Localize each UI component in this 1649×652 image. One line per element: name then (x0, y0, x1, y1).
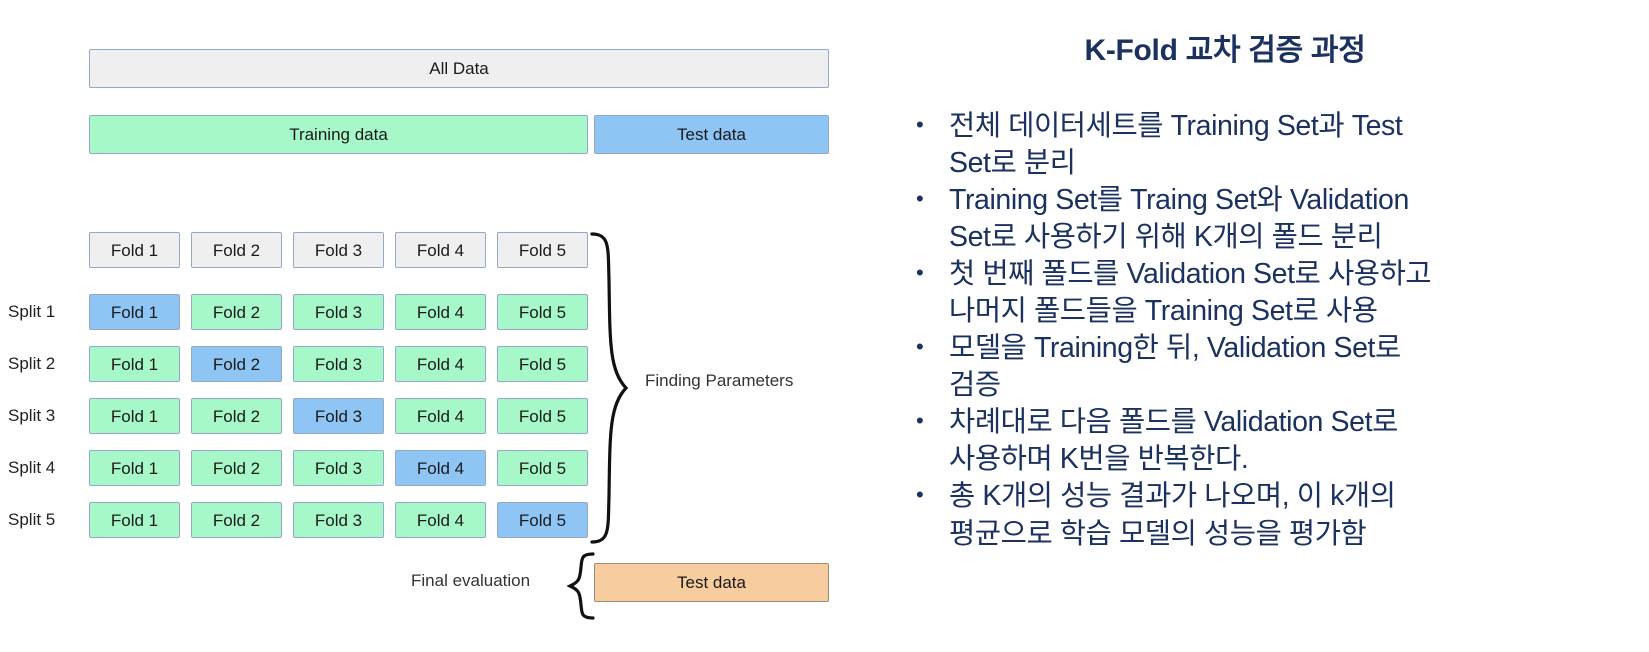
fold-cell-label: Fold 5 (519, 460, 566, 477)
bullet-text: 모델을 Training한 뒤, Validation Set로 검증 (949, 332, 1401, 401)
fold-cell-training: Fold 4 (395, 398, 486, 434)
bullet-text: 첫 번째 폴드를 Validation Set로 사용하고 나머지 폴드들을 T… (949, 258, 1431, 327)
fold-cell-training: Fold 1 (89, 502, 180, 538)
page-title: K-Fold 교차 검증 과정 (845, 25, 1605, 69)
fold-cell-label: Fold 1 (111, 460, 158, 477)
split-row: Split 3Fold 1Fold 2Fold 3Fold 4Fold 5 (0, 398, 840, 450)
fold-header-label: Fold 3 (315, 242, 362, 259)
bullet-list: •전체 데이터세트를 Training Set과 Test Set로 분리•Tr… (907, 108, 1647, 553)
fold-cell-training: Fold 3 (293, 502, 384, 538)
bullet-dot-icon: • (916, 182, 923, 216)
fold-cell-training: Fold 3 (293, 450, 384, 486)
fold-cell-label: Fold 4 (417, 356, 464, 373)
all-data-box: All Data (89, 49, 829, 88)
fold-cell-training: Fold 5 (497, 294, 588, 330)
split-label: Split 1 (8, 294, 84, 330)
bullet-item: •총 K개의 성능 결과가 나오며, 이 k개의 평균으로 학습 모델의 성능을… (907, 478, 1647, 552)
test-data-label: Test data (677, 126, 746, 143)
bullet-dot-icon: • (916, 330, 923, 364)
fold-cell-label: Fold 1 (111, 408, 158, 425)
fold-cell-training: Fold 5 (497, 398, 588, 434)
fold-cell-validation: Fold 1 (89, 294, 180, 330)
fold-cell-training: Fold 3 (293, 294, 384, 330)
finding-parameters-label: Finding Parameters (645, 371, 793, 391)
fold-grid: Fold 1Fold 2Fold 3Fold 4Fold 5Split 1Fol… (0, 232, 840, 554)
fold-cell-label: Fold 5 (519, 512, 566, 529)
bullet-item: •전체 데이터세트를 Training Set과 Test Set로 분리 (907, 108, 1647, 182)
bullet-item: •첫 번째 폴드를 Validation Set로 사용하고 나머지 폴드들을 … (907, 256, 1647, 330)
bullet-item: •차례대로 다음 폴드를 Validation Set로 사용하며 K번을 반복… (907, 404, 1647, 478)
bullet-dot-icon: • (916, 256, 923, 290)
bullet-item: •모델을 Training한 뒤, Validation Set로 검증 (907, 330, 1647, 404)
fold-cell-training: Fold 4 (395, 346, 486, 382)
fold-header-label: Fold 1 (111, 242, 158, 259)
split-row: Split 5Fold 1Fold 2Fold 3Fold 4Fold 5 (0, 502, 840, 554)
bullet-dot-icon: • (916, 404, 923, 438)
all-data-label: All Data (429, 60, 489, 77)
split-label: Split 2 (8, 346, 84, 382)
kfold-diagram-panel: All Data Training data Test data Fold 1F… (0, 0, 840, 652)
fold-cell-label: Fold 4 (417, 408, 464, 425)
test-data-box: Test data (594, 115, 829, 154)
split-row: Split 4Fold 1Fold 2Fold 3Fold 4Fold 5 (0, 450, 840, 502)
fold-cell-training: Fold 2 (191, 398, 282, 434)
fold-cell-label: Fold 4 (417, 304, 464, 321)
fold-cell-training: Fold 2 (191, 450, 282, 486)
fold-cell-training: Fold 1 (89, 450, 180, 486)
fold-cell-label: Fold 3 (315, 512, 362, 529)
fold-cell-training: Fold 2 (191, 294, 282, 330)
fold-cell-label: Fold 2 (213, 356, 260, 373)
split-label: Split 3 (8, 398, 84, 434)
fold-cell-training: Fold 5 (497, 346, 588, 382)
bullet-item: •Training Set를 Traing Set와 Validation Se… (907, 182, 1647, 256)
final-evaluation-brace (567, 551, 597, 621)
split-row: Split 1Fold 1Fold 2Fold 3Fold 4Fold 5 (0, 294, 840, 346)
bullet-dot-icon: • (916, 108, 923, 142)
fold-cell-training: Fold 1 (89, 398, 180, 434)
fold-header-cell: Fold 4 (395, 232, 486, 268)
fold-cell-label: Fold 3 (315, 304, 362, 321)
fold-cell-training: Fold 5 (497, 450, 588, 486)
description-panel: K-Fold 교차 검증 과정 •전체 데이터세트를 Training Set과… (845, 0, 1649, 652)
fold-cell-label: Fold 3 (315, 356, 362, 373)
fold-cell-label: Fold 4 (417, 460, 464, 477)
fold-cell-label: Fold 2 (213, 408, 260, 425)
fold-cell-label: Fold 1 (111, 512, 158, 529)
fold-cell-validation: Fold 4 (395, 450, 486, 486)
bullet-text: 총 K개의 성능 결과가 나오며, 이 k개의 평균으로 학습 모델의 성능을 … (949, 480, 1396, 549)
bullet-text: 전체 데이터세트를 Training Set과 Test Set로 분리 (949, 110, 1402, 179)
training-data-label: Training data (289, 126, 388, 143)
fold-cell-training: Fold 1 (89, 346, 180, 382)
final-test-data-box: Test data (594, 563, 829, 602)
bullet-text: Training Set를 Traing Set와 Validation Set… (949, 184, 1409, 253)
fold-cell-label: Fold 1 (111, 356, 158, 373)
fold-header-cell: Fold 2 (191, 232, 282, 268)
fold-cell-label: Fold 2 (213, 304, 260, 321)
bullet-text: 차례대로 다음 폴드를 Validation Set로 사용하며 K번을 반복한… (949, 406, 1398, 475)
fold-cell-label: Fold 2 (213, 512, 260, 529)
fold-header-cell: Fold 5 (497, 232, 588, 268)
fold-header-cell: Fold 3 (293, 232, 384, 268)
final-test-data-label: Test data (677, 574, 746, 591)
fold-cell-label: Fold 1 (111, 304, 158, 321)
fold-cell-validation: Fold 2 (191, 346, 282, 382)
fold-cell-label: Fold 2 (213, 460, 260, 477)
fold-cell-training: Fold 3 (293, 346, 384, 382)
fold-cell-label: Fold 3 (315, 460, 362, 477)
fold-cell-label: Fold 5 (519, 408, 566, 425)
fold-cell-training: Fold 4 (395, 502, 486, 538)
final-evaluation-label: Final evaluation (411, 571, 530, 591)
fold-header-label: Fold 5 (519, 242, 566, 259)
fold-cell-label: Fold 5 (519, 356, 566, 373)
split-label: Split 5 (8, 502, 84, 538)
training-data-box: Training data (89, 115, 588, 154)
fold-header-row: Fold 1Fold 2Fold 3Fold 4Fold 5 (0, 232, 840, 294)
fold-cell-validation: Fold 5 (497, 502, 588, 538)
bullet-dot-icon: • (916, 478, 923, 512)
fold-cell-label: Fold 3 (315, 408, 362, 425)
fold-header-label: Fold 2 (213, 242, 260, 259)
fold-header-cell: Fold 1 (89, 232, 180, 268)
fold-cell-label: Fold 5 (519, 304, 566, 321)
fold-cell-training: Fold 2 (191, 502, 282, 538)
fold-cell-label: Fold 4 (417, 512, 464, 529)
split-label: Split 4 (8, 450, 84, 486)
fold-cell-training: Fold 4 (395, 294, 486, 330)
fold-header-label: Fold 4 (417, 242, 464, 259)
fold-cell-validation: Fold 3 (293, 398, 384, 434)
